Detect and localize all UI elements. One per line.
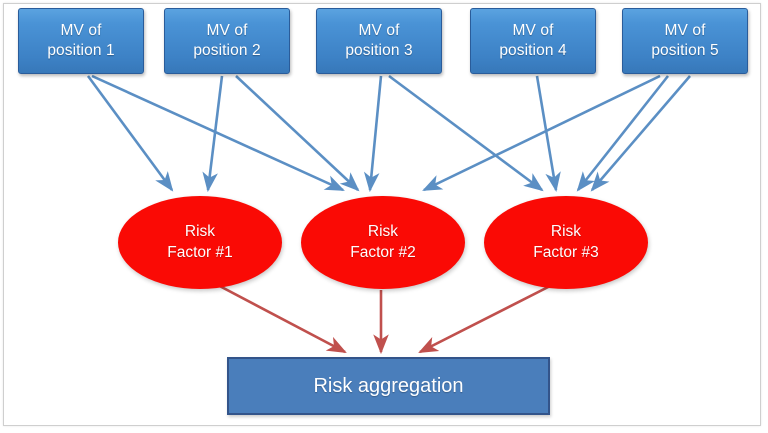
- source-box-label: MV of position 2: [193, 21, 260, 61]
- risk-factor-rf2[interactable]: Risk Factor #2: [301, 196, 465, 289]
- risk-factor-to-aggregation-arrows: [212, 282, 558, 352]
- source-box-label: MV of position 3: [345, 21, 412, 61]
- diagram-canvas: MV of position 1MV of position 2MV of po…: [0, 0, 768, 433]
- arrow-mv3-to-rf2: [370, 76, 381, 190]
- source-box-mv1[interactable]: MV of position 1: [18, 8, 144, 74]
- mv-to-risk-factor-arrows: [88, 76, 690, 190]
- source-box-mv3[interactable]: MV of position 3: [316, 8, 442, 74]
- source-box-label: MV of position 1: [47, 21, 114, 61]
- source-box-mv5[interactable]: MV of position 5: [622, 8, 748, 74]
- risk-aggregation-box[interactable]: Risk aggregation: [227, 357, 550, 415]
- risk-factor-rf3[interactable]: Risk Factor #3: [484, 196, 648, 289]
- arrow-mv5-to-rf3: [592, 76, 690, 190]
- risk-factor-rf1[interactable]: Risk Factor #1: [118, 196, 282, 289]
- risk-factor-label: Risk Factor #3: [533, 222, 598, 263]
- source-box-label: MV of position 4: [499, 21, 566, 61]
- risk-factor-label: Risk Factor #1: [167, 222, 232, 263]
- arrow-mv2-to-rf2: [236, 76, 358, 190]
- arrow-mv3-to-rf3: [389, 76, 542, 190]
- arrow-rf3-to-agg: [420, 282, 558, 352]
- source-box-label: MV of position 5: [651, 21, 718, 61]
- source-box-mv2[interactable]: MV of position 2: [164, 8, 290, 74]
- arrow-rf1-to-agg: [212, 282, 345, 352]
- source-box-mv4[interactable]: MV of position 4: [470, 8, 596, 74]
- risk-factor-label: Risk Factor #2: [350, 222, 415, 263]
- risk-aggregation-label: Risk aggregation: [313, 375, 463, 398]
